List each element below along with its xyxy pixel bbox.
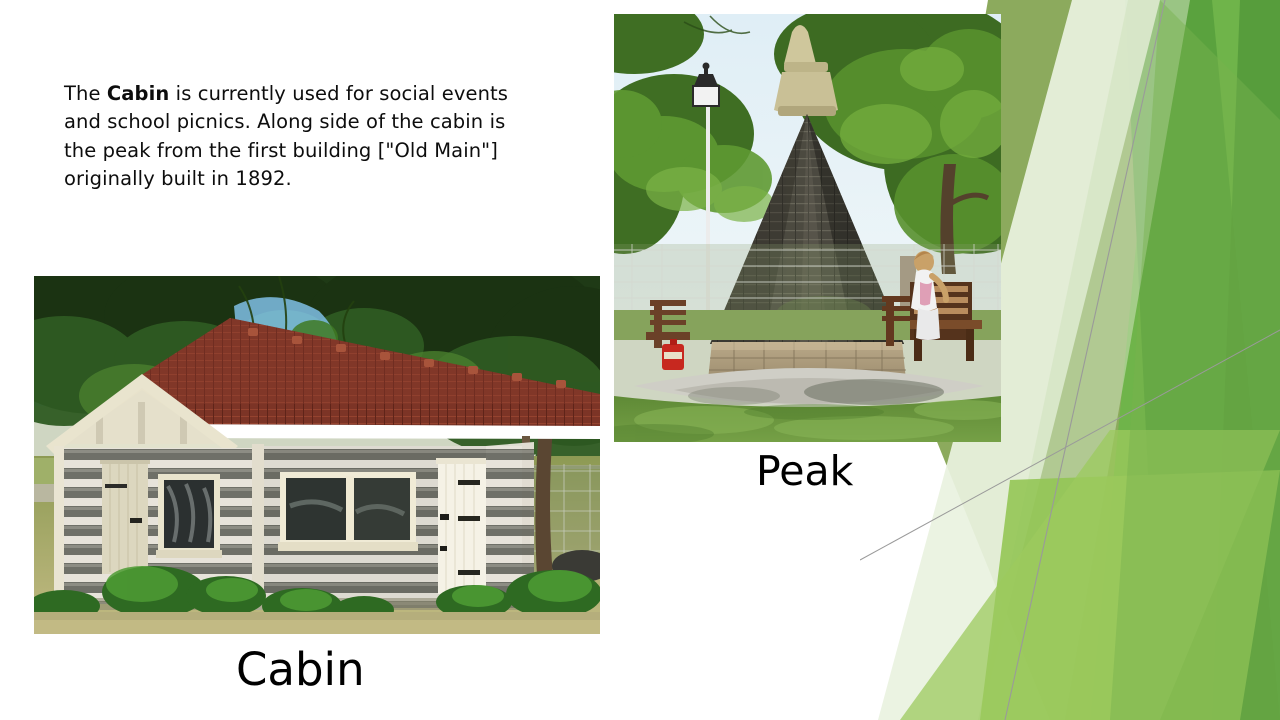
body-text: The Cabin is currently used for social e… <box>64 80 516 193</box>
deco-shape-lime-wedge <box>980 470 1280 720</box>
deco-hairline-steep <box>1005 0 1165 720</box>
peak-photo <box>614 14 1001 442</box>
deco-shape-green-bright <box>1090 0 1280 720</box>
caption-cabin: Cabin <box>236 643 365 696</box>
deco-shape-pale-sheet-2 <box>978 0 1190 720</box>
deco-shape-green-deep <box>1212 0 1280 720</box>
body-text-bold-term: Cabin <box>107 82 170 105</box>
caption-peak: Peak <box>756 447 853 495</box>
cabin-photo <box>34 276 600 634</box>
deco-shape-overlay-soft <box>1110 0 1280 720</box>
deco-shape-green-mid <box>1125 0 1280 720</box>
deco-shape-lime-wedge-2 <box>900 430 1280 720</box>
body-text-lead: The <box>64 82 107 105</box>
